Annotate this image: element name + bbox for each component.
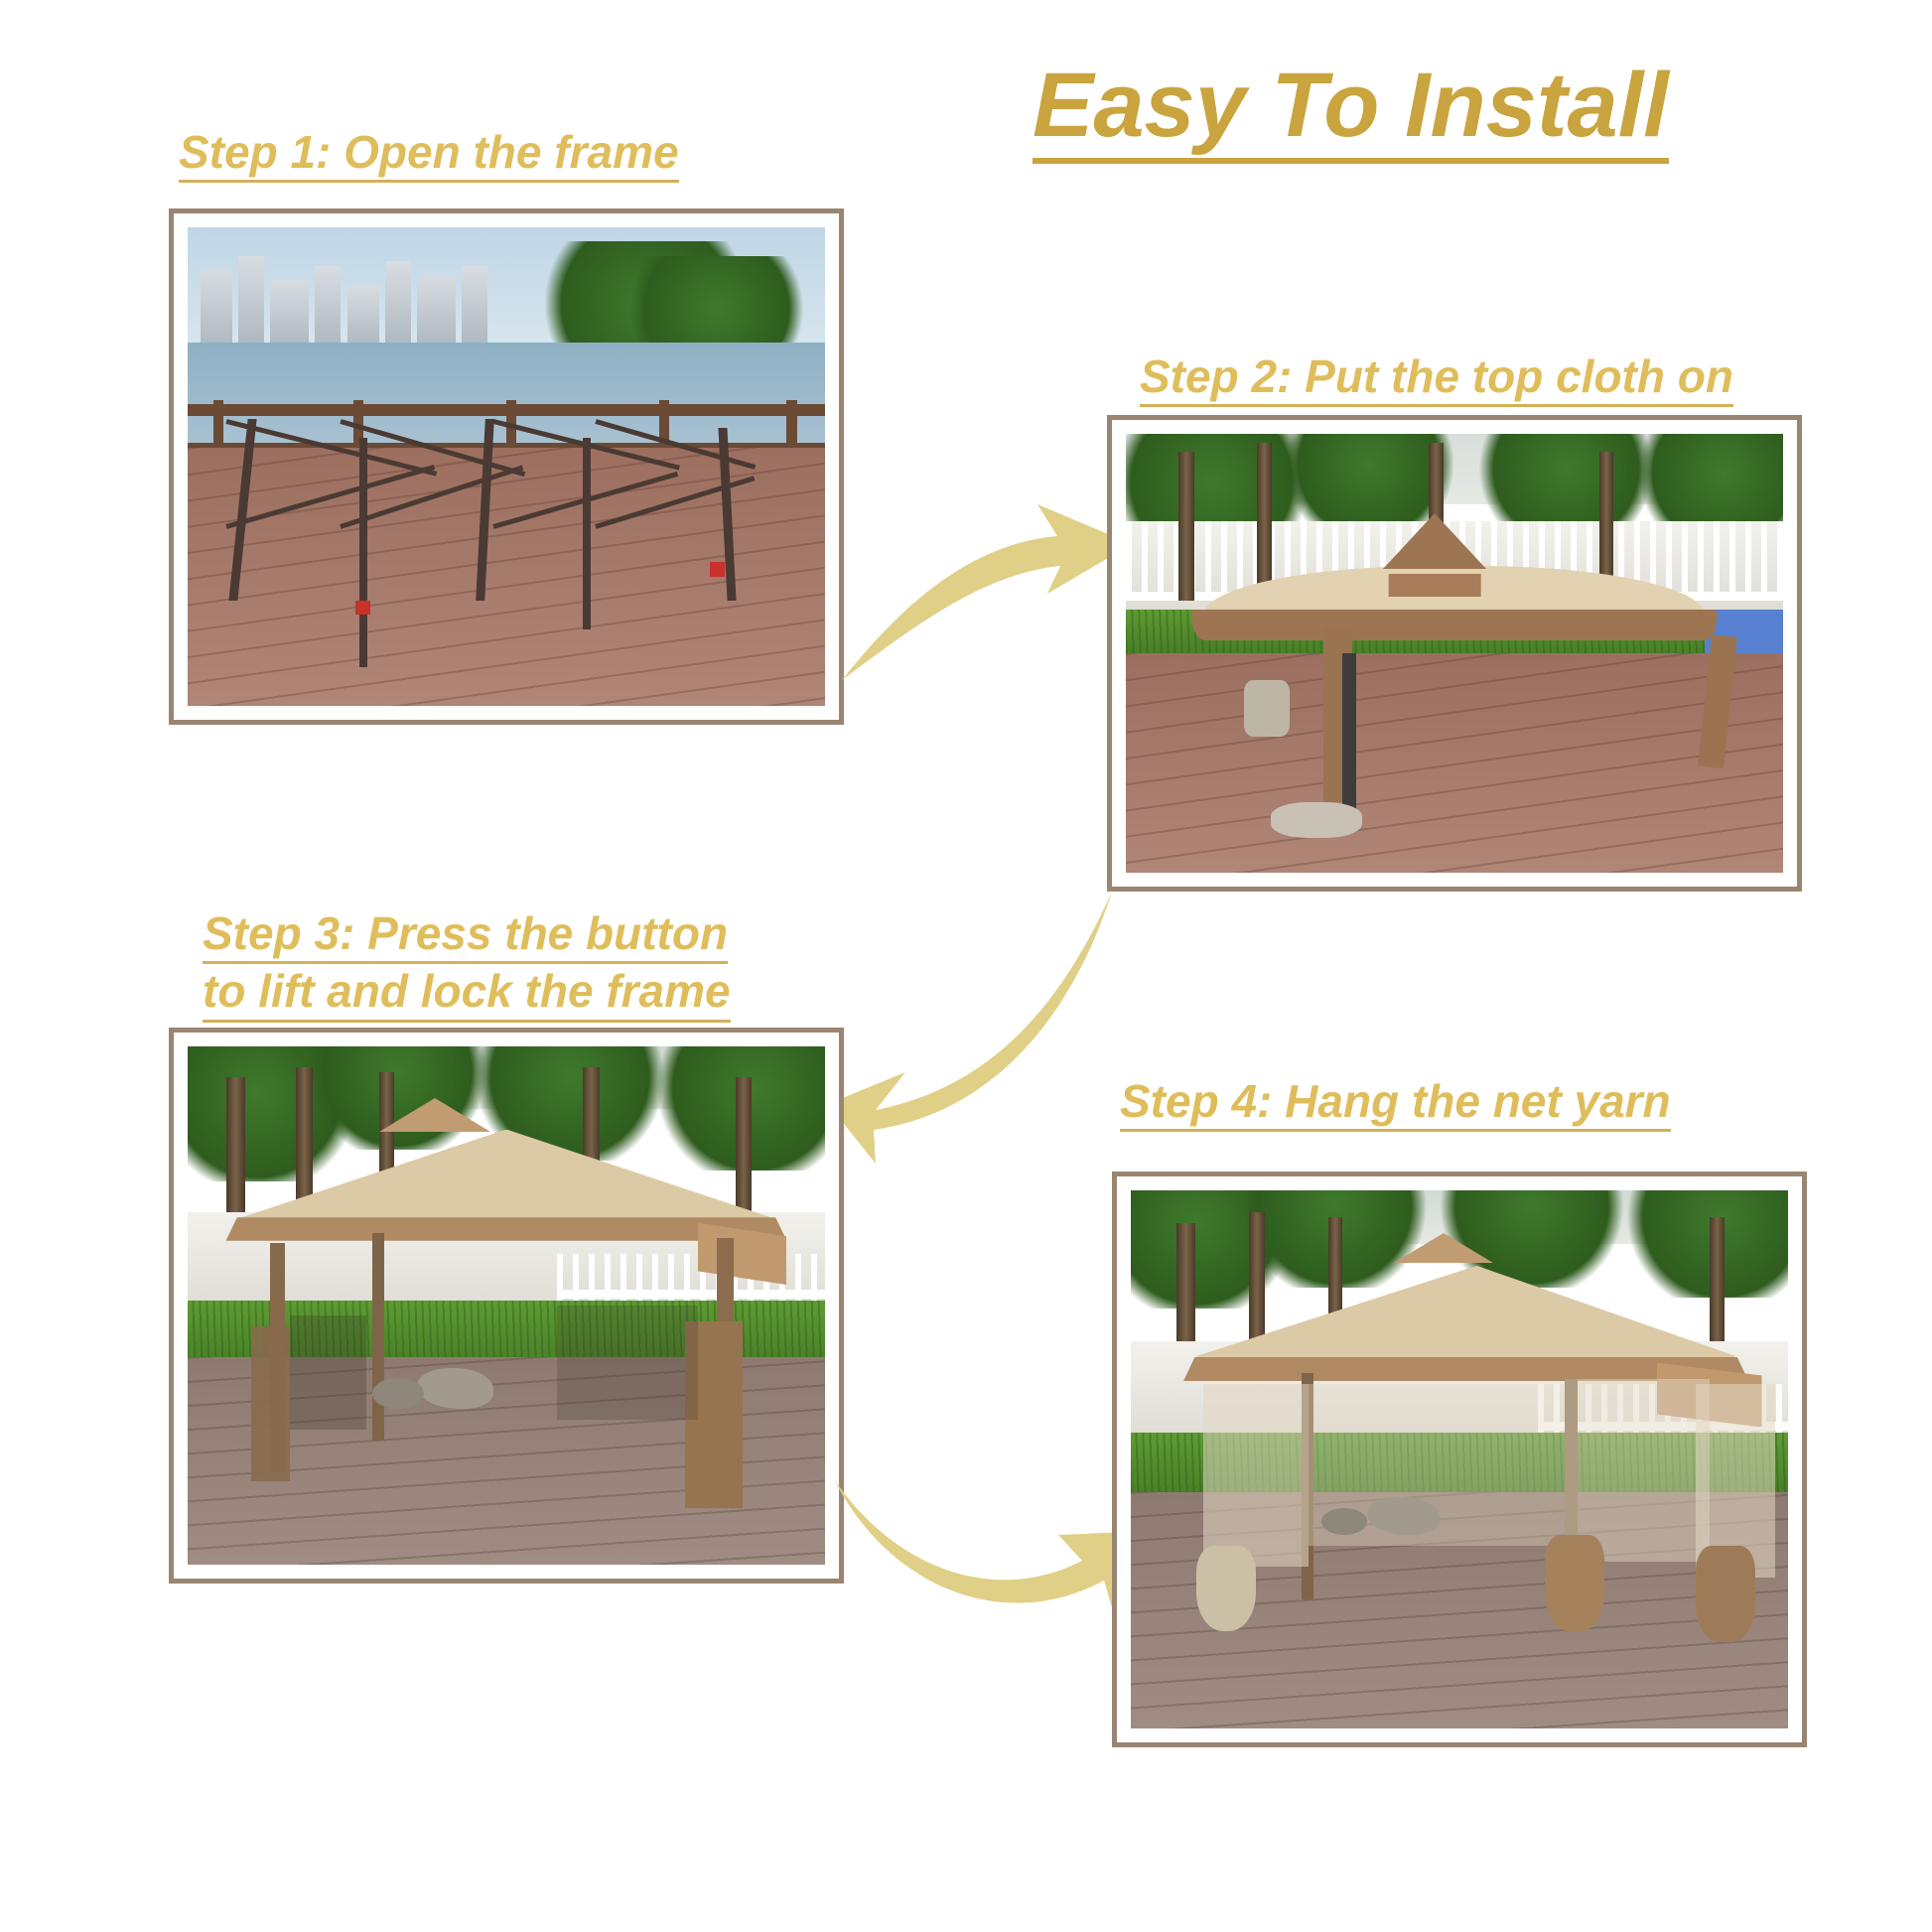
step-3-label: Step 3: Press the button to lift and loc… bbox=[203, 906, 731, 1023]
step-3-label-line-2: to lift and lock the frame bbox=[203, 964, 731, 1022]
step-3-label-line-1: Step 3: Press the button bbox=[203, 906, 728, 964]
step-4-label: Step 4: Hang the net yarn bbox=[1120, 1074, 1671, 1132]
step-2-photo-frame bbox=[1107, 415, 1802, 892]
step-4-photo bbox=[1131, 1190, 1788, 1728]
step-1-label: Step 1: Open the frame bbox=[179, 125, 679, 183]
infographic-page: Easy To Install Step 1: Open the frame bbox=[0, 0, 1932, 1932]
step-3-photo-frame bbox=[169, 1028, 844, 1584]
arrow-step2-to-step3 bbox=[814, 874, 1152, 1172]
step-4-photo-frame bbox=[1112, 1172, 1807, 1747]
arrow-step1-to-step2 bbox=[834, 467, 1152, 695]
step-2-label-line-1: Step 2: Put the top cloth on bbox=[1140, 349, 1733, 407]
step-1-photo bbox=[188, 227, 825, 706]
arrow-step3-to-step4 bbox=[824, 1440, 1162, 1668]
step-1-label-line-1: Step 1: Open the frame bbox=[179, 125, 679, 183]
step-2-photo bbox=[1126, 434, 1783, 873]
page-title: Easy To Install bbox=[1033, 58, 1669, 164]
step-3-photo bbox=[188, 1046, 825, 1565]
step-2-label: Step 2: Put the top cloth on bbox=[1140, 349, 1733, 407]
step-1-photo-frame bbox=[169, 208, 844, 725]
step-4-label-line-1: Step 4: Hang the net yarn bbox=[1120, 1074, 1671, 1132]
